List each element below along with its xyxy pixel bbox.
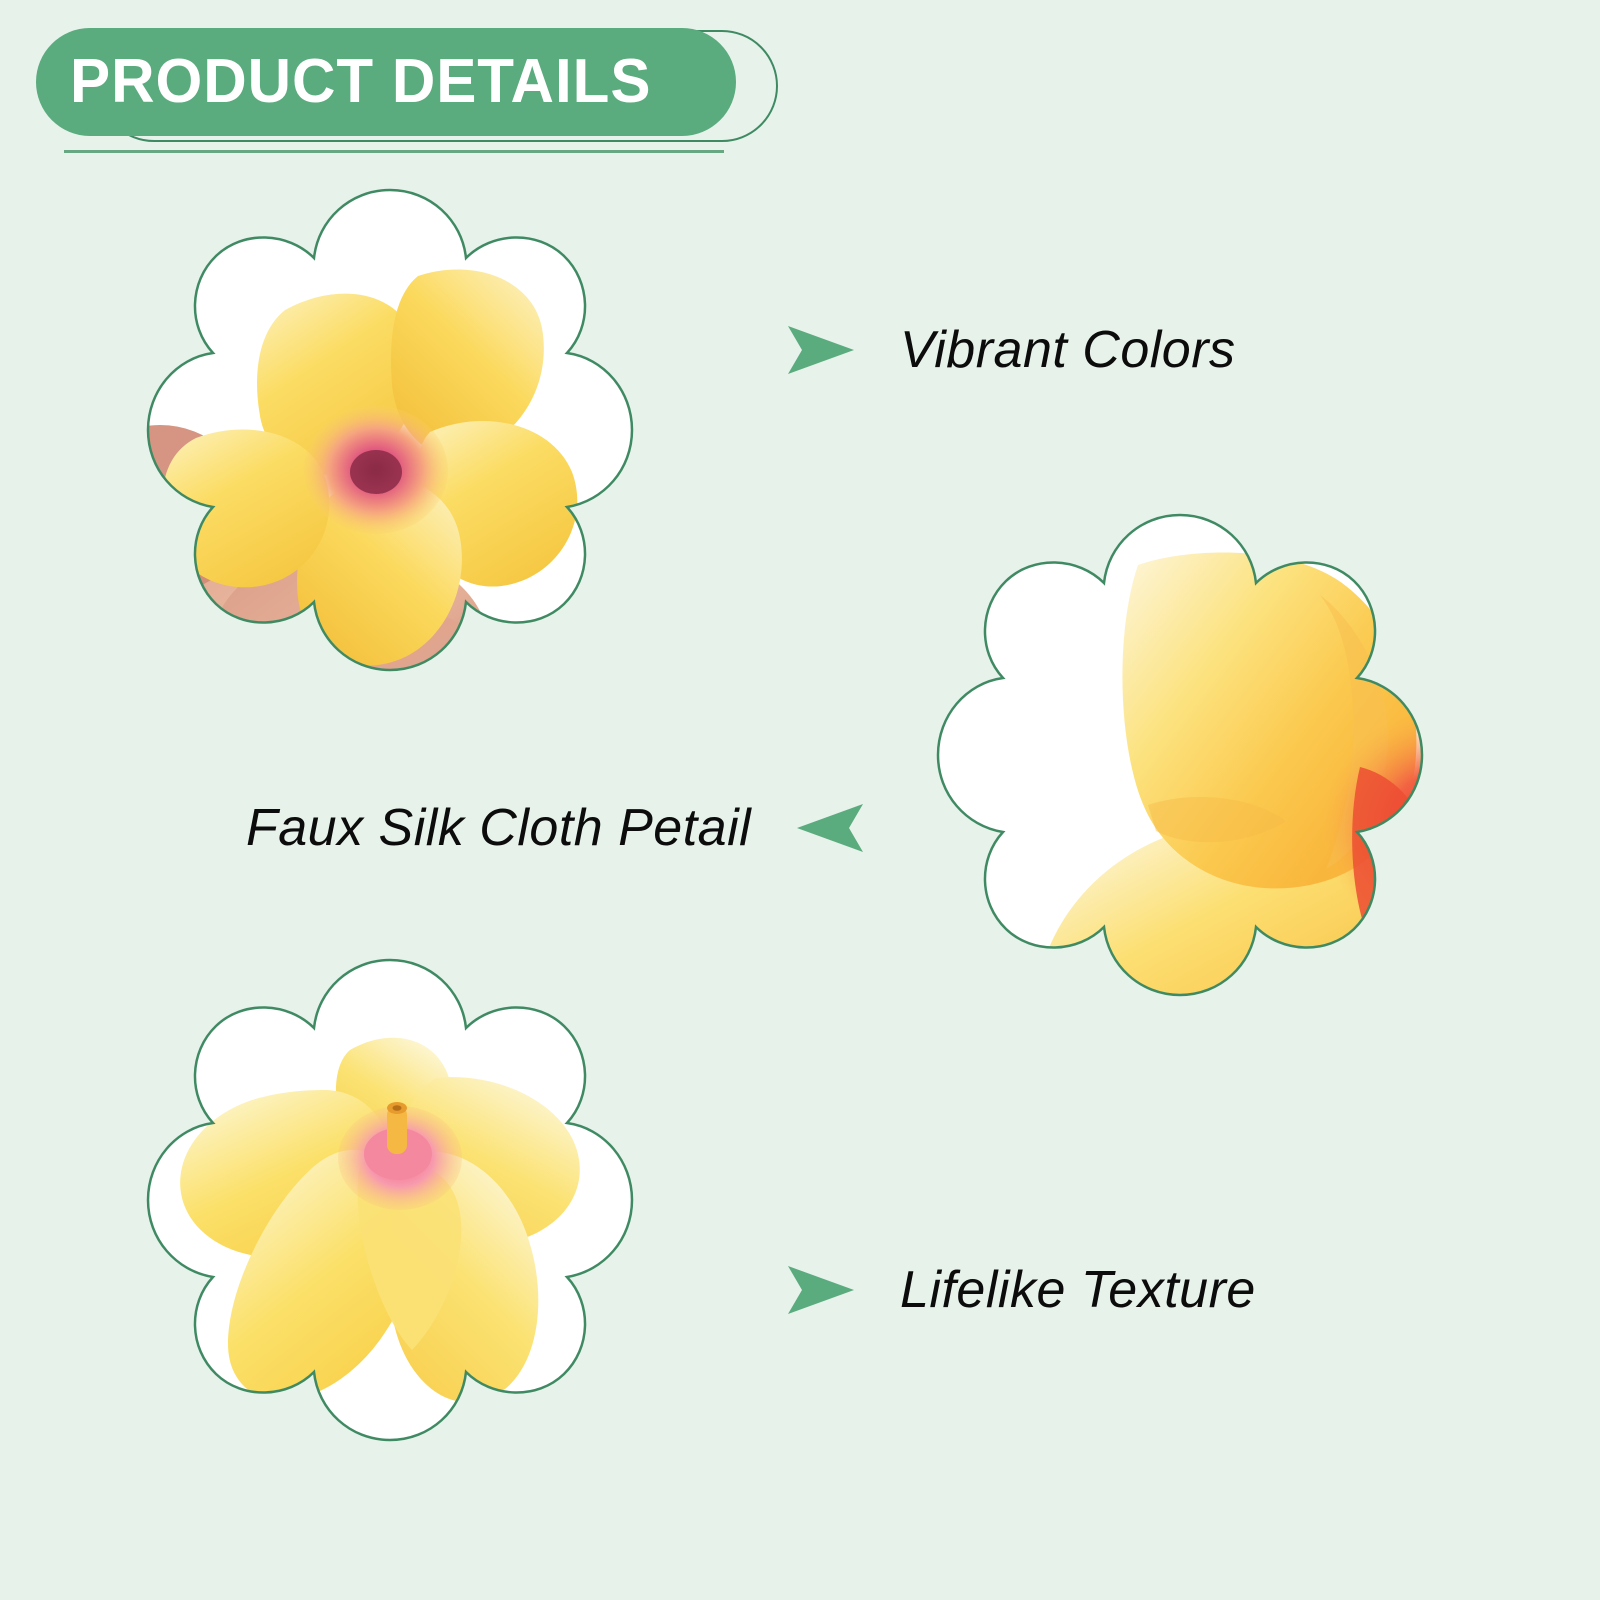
photo-frame-flower-flat-lay: [100, 950, 680, 1550]
callout-label-lifelike-texture: Lifelike Texture: [900, 1264, 1256, 1316]
header-pill: PRODUCT DETAILS: [36, 28, 736, 136]
header-underline: [64, 150, 724, 153]
callout-lifelike-texture: Lifelike Texture: [786, 1262, 1256, 1318]
arrow-left-icon: [795, 800, 865, 856]
callout-label-faux-silk-cloth-petail: Faux Silk Cloth Petail: [246, 802, 751, 854]
photo-frame-petal-closeup: [890, 505, 1470, 1105]
header-banner: PRODUCT DETAILS: [36, 28, 756, 148]
arrow-right-icon: [786, 322, 856, 378]
photo-frame-flower-in-hand: [100, 180, 680, 780]
arrow-right-icon: [786, 1262, 856, 1318]
product-details-infographic: PRODUCT DETAILS: [0, 0, 1600, 1600]
callout-label-vibrant-colors: Vibrant Colors: [900, 324, 1236, 376]
page-title: PRODUCT DETAILS: [70, 51, 651, 113]
callout-faux-silk-cloth-petail: Faux Silk Cloth Petail: [246, 800, 865, 856]
callout-vibrant-colors: Vibrant Colors: [786, 322, 1236, 378]
